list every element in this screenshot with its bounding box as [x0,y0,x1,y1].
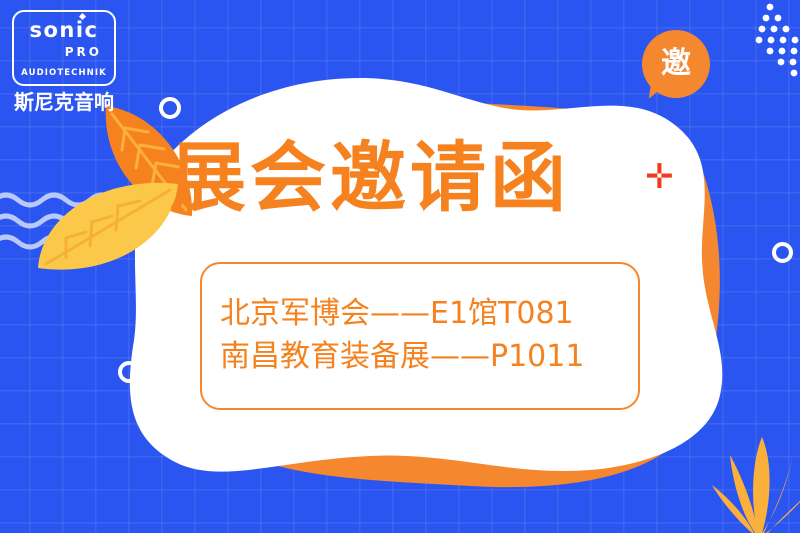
ring-circle-decoration-3 [772,242,793,263]
logo-tagline: AUDIOTECHNIK [20,69,108,78]
logo-brand-sub: PRO [20,46,108,58]
invite-badge[interactable]: 邀 [642,30,710,98]
grass-plant-decoration [700,425,800,533]
invite-badge-label: 邀 [661,49,691,79]
logo-brand-name: sonic [29,20,98,41]
logo-frame: sonic PRO AUDIOTECHNIK [12,10,116,86]
yellow-leaf-decoration [32,170,192,285]
brand-logo[interactable]: sonic PRO AUDIOTECHNIK 斯尼克音响 [12,10,116,112]
dot-grid-decoration-top-right [742,2,800,80]
logo-brand-text: sonic [29,18,98,42]
logo-brand-cn: 斯尼克音响 [12,92,116,112]
invitation-poster: 邀 sonic PRO AUDIOTECHNIK 斯尼克音响 展会邀请函 ✛ 北… [0,0,800,533]
